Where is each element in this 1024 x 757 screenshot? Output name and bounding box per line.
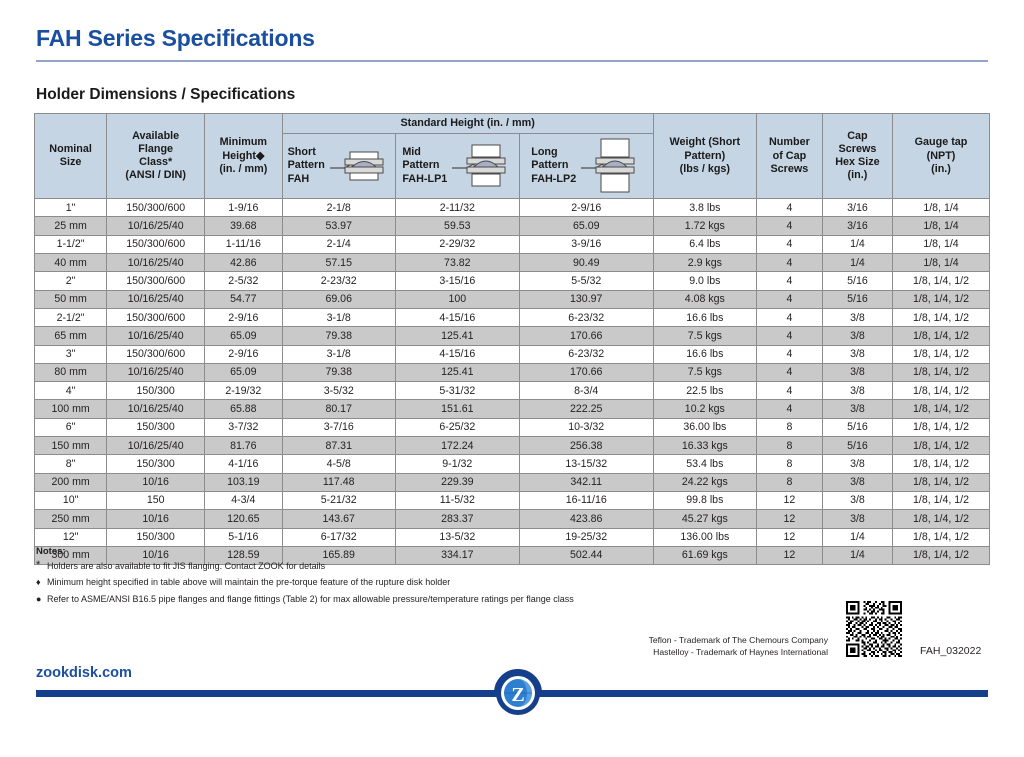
cell-flange-class: 10/16 xyxy=(107,473,205,491)
cell-mid-pattern: 283.37 xyxy=(395,510,519,528)
table-row: 80 mm10/16/25/4065.0979.38125.41170.667.… xyxy=(35,363,990,381)
cell-minimum-height: 1-11/16 xyxy=(205,235,282,253)
col-header-mid-pattern: Mid Pattern FAH-LP1 xyxy=(395,134,519,199)
cell-minimum-height: 2-19/32 xyxy=(205,382,282,400)
cell-nominal-size: 1-1/2" xyxy=(35,235,107,253)
col-header-minimum-height: Minimum Height◆ (in. / mm) xyxy=(205,114,282,199)
cell-gauge-tap: 1/8, 1/4, 1/2 xyxy=(893,546,990,564)
cell-cap-screws-hex-size: 3/16 xyxy=(822,217,892,235)
cell-number-of-cap-screws: 4 xyxy=(756,345,822,363)
table-row: 12"150/3005-1/166-17/3213-5/3219-25/3213… xyxy=(35,528,990,546)
cell-number-of-cap-screws: 12 xyxy=(756,528,822,546)
hex-line4: (in.) xyxy=(825,169,890,182)
cell-gauge-tap: 1/8, 1/4, 1/2 xyxy=(893,345,990,363)
table-row: 50 mm10/16/25/4054.7769.06100130.974.08 … xyxy=(35,290,990,308)
cell-short-pattern: 79.38 xyxy=(282,327,395,345)
cell-long-pattern: 6-23/32 xyxy=(519,345,653,363)
cell-short-pattern: 3-7/16 xyxy=(282,418,395,436)
cell-minimum-height: 65.88 xyxy=(205,400,282,418)
cell-weight: 45.27 kgs xyxy=(653,510,756,528)
nominal-size-line1: Nominal xyxy=(37,143,104,156)
cell-long-pattern: 16-11/16 xyxy=(519,491,653,509)
cell-nominal-size: 150 mm xyxy=(35,437,107,455)
cell-gauge-tap: 1/8, 1/4, 1/2 xyxy=(893,528,990,546)
cell-gauge-tap: 1/8, 1/4, 1/2 xyxy=(893,400,990,418)
cell-long-pattern: 222.25 xyxy=(519,400,653,418)
minimum-height-line3: (in. / mm) xyxy=(207,163,279,176)
cell-mid-pattern: 172.24 xyxy=(395,437,519,455)
zook-logo-icon: Z xyxy=(494,669,542,717)
long-pattern-line3: FAH-LP2 xyxy=(531,173,576,186)
cell-minimum-height: 2-9/16 xyxy=(205,345,282,363)
cell-number-of-cap-screws: 4 xyxy=(756,400,822,418)
cell-short-pattern: 6-17/32 xyxy=(282,528,395,546)
minimum-height-line1: Minimum xyxy=(207,136,279,149)
cell-weight: 7.5 kgs xyxy=(653,363,756,381)
table-row: 8"150/3004-1/164-5/89-1/3213-15/3253.4 l… xyxy=(35,455,990,473)
cell-short-pattern: 79.38 xyxy=(282,363,395,381)
cell-mid-pattern: 73.82 xyxy=(395,254,519,272)
cell-number-of-cap-screws: 8 xyxy=(756,437,822,455)
cell-cap-screws-hex-size: 3/16 xyxy=(822,199,892,217)
hex-line2: Screws xyxy=(825,143,890,156)
cell-minimum-height: 2-9/16 xyxy=(205,308,282,326)
cell-cap-screws-hex-size: 5/16 xyxy=(822,290,892,308)
cell-nominal-size: 2-1/2" xyxy=(35,308,107,326)
gauge-line2: (NPT) xyxy=(895,150,987,163)
cell-short-pattern: 5-21/32 xyxy=(282,491,395,509)
cell-cap-screws-hex-size: 1/4 xyxy=(822,254,892,272)
col-header-short-pattern: Short Pattern FAH xyxy=(282,134,395,199)
notes-list: *Holders are also available to fit JIS f… xyxy=(36,561,736,605)
cell-long-pattern: 65.09 xyxy=(519,217,653,235)
cell-long-pattern: 423.86 xyxy=(519,510,653,528)
cell-number-of-cap-screws: 4 xyxy=(756,254,822,272)
col-header-gauge-tap: Gauge tap (NPT) (in.) xyxy=(893,114,990,199)
cell-mid-pattern: 151.61 xyxy=(395,400,519,418)
specification-page: FAH Series Specifications Holder Dimensi… xyxy=(0,0,1024,757)
notes-heading: Notes: xyxy=(36,546,736,557)
title-divider xyxy=(36,60,988,62)
col-header-nominal-size: Nominal Size xyxy=(35,114,107,199)
cell-long-pattern: 170.66 xyxy=(519,327,653,345)
note-text: Minimum height specified in table above … xyxy=(47,577,736,588)
cell-gauge-tap: 1/8, 1/4 xyxy=(893,217,990,235)
cell-nominal-size: 1" xyxy=(35,199,107,217)
cell-weight: 16.6 lbs xyxy=(653,345,756,363)
cell-gauge-tap: 1/8, 1/4, 1/2 xyxy=(893,510,990,528)
holder-dimensions-table-wrapper: Nominal Size Available Flange Class* (AN… xyxy=(34,113,990,565)
mid-pattern-line3: FAH-LP1 xyxy=(402,173,447,186)
table-row: 25 mm10/16/25/4039.6853.9759.5365.091.72… xyxy=(35,217,990,235)
cell-long-pattern: 130.97 xyxy=(519,290,653,308)
cell-mid-pattern: 125.41 xyxy=(395,363,519,381)
cell-flange-class: 150/300/600 xyxy=(107,235,205,253)
cell-minimum-height: 42.86 xyxy=(205,254,282,272)
cell-cap-screws-hex-size: 3/8 xyxy=(822,345,892,363)
col-header-weight: Weight (Short Pattern) (lbs / kgs) xyxy=(653,114,756,199)
table-row: 65 mm10/16/25/4065.0979.38125.41170.667.… xyxy=(35,327,990,345)
cell-cap-screws-hex-size: 3/8 xyxy=(822,363,892,381)
short-pattern-line3: FAH xyxy=(288,173,325,186)
cell-cap-screws-hex-size: 3/8 xyxy=(822,455,892,473)
cell-long-pattern: 2-9/16 xyxy=(519,199,653,217)
cell-gauge-tap: 1/8, 1/4 xyxy=(893,254,990,272)
cell-gauge-tap: 1/8, 1/4 xyxy=(893,235,990,253)
document-code: FAH_032022 xyxy=(920,645,981,657)
diamond-marker-icon: ◆ xyxy=(256,150,264,162)
cell-cap-screws-hex-size: 1/4 xyxy=(822,546,892,564)
table-row: 2-1/2"150/300/6002-9/163-1/84-15/166-23/… xyxy=(35,308,990,326)
short-pattern-line1: Short xyxy=(288,146,325,159)
cell-minimum-height: 5-1/16 xyxy=(205,528,282,546)
cell-nominal-size: 3" xyxy=(35,345,107,363)
cell-cap-screws-hex-size: 1/4 xyxy=(822,528,892,546)
cell-nominal-size: 2" xyxy=(35,272,107,290)
hex-line1: Cap xyxy=(825,130,890,143)
cell-cap-screws-hex-size: 3/8 xyxy=(822,510,892,528)
cell-cap-screws-hex-size: 1/4 xyxy=(822,235,892,253)
table-header: Nominal Size Available Flange Class* (AN… xyxy=(35,114,990,199)
table-body: 1"150/300/6001-9/162-1/82-11/322-9/163.8… xyxy=(35,199,990,565)
cell-flange-class: 10/16/25/40 xyxy=(107,254,205,272)
cell-short-pattern: 53.97 xyxy=(282,217,395,235)
cell-nominal-size: 10" xyxy=(35,491,107,509)
flange-class-line4: (ANSI / DIN) xyxy=(109,169,202,182)
cell-minimum-height: 1-9/16 xyxy=(205,199,282,217)
note-marker-icon: ● xyxy=(36,594,47,605)
section-title: Holder Dimensions / Specifications xyxy=(36,86,295,104)
cell-weight: 16.6 lbs xyxy=(653,308,756,326)
minimum-height-line2: Height◆ xyxy=(207,150,279,163)
cell-flange-class: 150/300/600 xyxy=(107,308,205,326)
table-row: 3"150/300/6002-9/163-1/84-15/166-23/3216… xyxy=(35,345,990,363)
cell-mid-pattern: 3-15/16 xyxy=(395,272,519,290)
note-marker-icon: * xyxy=(36,561,47,571)
note-marker-icon: ♦ xyxy=(36,577,47,588)
cell-weight: 22.5 lbs xyxy=(653,382,756,400)
cell-minimum-height: 65.09 xyxy=(205,327,282,345)
col-header-long-pattern: Long Pattern FAH-LP2 xyxy=(519,134,653,199)
cell-flange-class: 150/300 xyxy=(107,382,205,400)
cell-short-pattern: 143.67 xyxy=(282,510,395,528)
title-block: FAH Series Specifications xyxy=(36,26,988,62)
cell-nominal-size: 100 mm xyxy=(35,400,107,418)
cell-mid-pattern: 9-1/32 xyxy=(395,455,519,473)
cell-long-pattern: 90.49 xyxy=(519,254,653,272)
num-screws-line2: of Cap xyxy=(759,150,820,163)
cell-nominal-size: 250 mm xyxy=(35,510,107,528)
cell-gauge-tap: 1/8, 1/4, 1/2 xyxy=(893,491,990,509)
cell-nominal-size: 8" xyxy=(35,455,107,473)
cell-long-pattern: 5-5/32 xyxy=(519,272,653,290)
cell-mid-pattern: 11-5/32 xyxy=(395,491,519,509)
cell-number-of-cap-screws: 4 xyxy=(756,363,822,381)
cell-weight: 24.22 kgs xyxy=(653,473,756,491)
cell-weight: 9.0 lbs xyxy=(653,272,756,290)
cell-number-of-cap-screws: 4 xyxy=(756,308,822,326)
trademark-line-1: Teflon - Trademark of The Chemours Compa… xyxy=(632,634,828,646)
cell-long-pattern: 13-15/32 xyxy=(519,455,653,473)
cell-weight: 10.2 kgs xyxy=(653,400,756,418)
table-row: 1"150/300/6001-9/162-1/82-11/322-9/163.8… xyxy=(35,199,990,217)
cell-weight: 36.00 lbs xyxy=(653,418,756,436)
cell-gauge-tap: 1/8, 1/4, 1/2 xyxy=(893,382,990,400)
cell-weight: 4.08 kgs xyxy=(653,290,756,308)
cell-long-pattern: 170.66 xyxy=(519,363,653,381)
cell-flange-class: 10/16 xyxy=(107,510,205,528)
cell-long-pattern: 10-3/32 xyxy=(519,418,653,436)
note-item: ●Refer to ASME/ANSI B16.5 pipe flanges a… xyxy=(36,594,736,605)
cell-minimum-height: 120.65 xyxy=(205,510,282,528)
cell-mid-pattern: 4-15/16 xyxy=(395,308,519,326)
table-row: 2"150/300/6002-5/322-23/323-15/165-5/329… xyxy=(35,272,990,290)
note-text: Refer to ASME/ANSI B16.5 pipe flanges an… xyxy=(47,594,736,605)
cell-flange-class: 150 xyxy=(107,491,205,509)
table-row: 10"1504-3/45-21/3211-5/3216-11/1699.8 lb… xyxy=(35,491,990,509)
cell-cap-screws-hex-size: 5/16 xyxy=(822,437,892,455)
cell-number-of-cap-screws: 12 xyxy=(756,546,822,564)
cell-mid-pattern: 5-31/32 xyxy=(395,382,519,400)
trademark-line-2: Hastelloy - Trademark of Haynes Internat… xyxy=(632,646,828,658)
cell-weight: 7.5 kgs xyxy=(653,327,756,345)
zook-logo-letter: Z xyxy=(511,684,524,706)
cell-number-of-cap-screws: 12 xyxy=(756,510,822,528)
cell-long-pattern: 256.38 xyxy=(519,437,653,455)
cell-gauge-tap: 1/8, 1/4, 1/2 xyxy=(893,473,990,491)
cell-nominal-size: 6" xyxy=(35,418,107,436)
col-header-cap-screws-hex-size: Cap Screws Hex Size (in.) xyxy=(822,114,892,199)
col-header-flange-class: Available Flange Class* (ANSI / DIN) xyxy=(107,114,205,199)
cell-number-of-cap-screws: 4 xyxy=(756,327,822,345)
website-link[interactable]: zookdisk.com xyxy=(36,665,132,681)
cell-gauge-tap: 1/8, 1/4, 1/2 xyxy=(893,327,990,345)
cell-flange-class: 10/16/25/40 xyxy=(107,400,205,418)
cell-nominal-size: 25 mm xyxy=(35,217,107,235)
page-title: FAH Series Specifications xyxy=(36,26,988,51)
cell-mid-pattern: 229.39 xyxy=(395,473,519,491)
cell-minimum-height: 3-7/32 xyxy=(205,418,282,436)
cell-nominal-size: 200 mm xyxy=(35,473,107,491)
cell-cap-screws-hex-size: 5/16 xyxy=(822,418,892,436)
gauge-line1: Gauge tap xyxy=(895,136,987,149)
weight-line3: (lbs / kgs) xyxy=(656,163,754,176)
cell-weight: 1.72 kgs xyxy=(653,217,756,235)
cell-mid-pattern: 125.41 xyxy=(395,327,519,345)
cell-nominal-size: 12" xyxy=(35,528,107,546)
cell-mid-pattern: 2-11/32 xyxy=(395,199,519,217)
cell-long-pattern: 3-9/16 xyxy=(519,235,653,253)
table-row: 250 mm10/16120.65143.67283.37423.8645.27… xyxy=(35,510,990,528)
qr-code-icon[interactable] xyxy=(846,601,902,657)
cell-number-of-cap-screws: 8 xyxy=(756,455,822,473)
cell-short-pattern: 2-1/4 xyxy=(282,235,395,253)
mid-pattern-line1: Mid xyxy=(402,146,447,159)
table-row: 200 mm10/16103.19117.48229.39342.1124.22… xyxy=(35,473,990,491)
num-screws-line3: Screws xyxy=(759,163,820,176)
cell-gauge-tap: 1/8, 1/4, 1/2 xyxy=(893,308,990,326)
cell-flange-class: 150/300/600 xyxy=(107,199,205,217)
cell-number-of-cap-screws: 4 xyxy=(756,199,822,217)
cell-cap-screws-hex-size: 3/8 xyxy=(822,400,892,418)
cell-weight: 3.8 lbs xyxy=(653,199,756,217)
table-header-row-group: Nominal Size Available Flange Class* (AN… xyxy=(35,114,990,134)
cell-weight: 16.33 kgs xyxy=(653,437,756,455)
cell-gauge-tap: 1/8, 1/4, 1/2 xyxy=(893,455,990,473)
short-pattern-line2: Pattern xyxy=(288,159,325,172)
cell-number-of-cap-screws: 4 xyxy=(756,272,822,290)
cell-short-pattern: 69.06 xyxy=(282,290,395,308)
gauge-line3: (in.) xyxy=(895,163,987,176)
cell-flange-class: 150/300 xyxy=(107,455,205,473)
table-row: 100 mm10/16/25/4065.8880.17151.61222.251… xyxy=(35,400,990,418)
cell-flange-class: 150/300 xyxy=(107,528,205,546)
note-item: ♦Minimum height specified in table above… xyxy=(36,577,736,588)
cell-number-of-cap-screws: 8 xyxy=(756,473,822,491)
cell-weight: 2.9 kgs xyxy=(653,254,756,272)
cell-nominal-size: 4" xyxy=(35,382,107,400)
cell-flange-class: 10/16/25/40 xyxy=(107,363,205,381)
cell-flange-class: 10/16/25/40 xyxy=(107,437,205,455)
mid-pattern-diagram-icon xyxy=(450,140,512,192)
cell-gauge-tap: 1/8, 1/4, 1/2 xyxy=(893,272,990,290)
cell-flange-class: 150/300 xyxy=(107,418,205,436)
cell-nominal-size: 50 mm xyxy=(35,290,107,308)
cell-cap-screws-hex-size: 3/8 xyxy=(822,308,892,326)
long-pattern-diagram-icon xyxy=(579,137,641,195)
cell-flange-class: 10/16/25/40 xyxy=(107,290,205,308)
table-row: 6"150/3003-7/323-7/166-25/3210-3/3236.00… xyxy=(35,418,990,436)
cell-cap-screws-hex-size: 3/8 xyxy=(822,382,892,400)
cell-number-of-cap-screws: 4 xyxy=(756,382,822,400)
flange-class-line3: Class* xyxy=(109,156,202,169)
cell-mid-pattern: 4-15/16 xyxy=(395,345,519,363)
cell-mid-pattern: 59.53 xyxy=(395,217,519,235)
cell-mid-pattern: 100 xyxy=(395,290,519,308)
cell-minimum-height: 2-5/32 xyxy=(205,272,282,290)
cell-short-pattern: 3-1/8 xyxy=(282,308,395,326)
cell-mid-pattern: 6-25/32 xyxy=(395,418,519,436)
cell-short-pattern: 57.15 xyxy=(282,254,395,272)
cell-minimum-height: 65.09 xyxy=(205,363,282,381)
cell-cap-screws-hex-size: 3/8 xyxy=(822,491,892,509)
cell-nominal-size: 40 mm xyxy=(35,254,107,272)
cell-minimum-height: 4-1/16 xyxy=(205,455,282,473)
cell-flange-class: 150/300/600 xyxy=(107,272,205,290)
cell-minimum-height: 4-3/4 xyxy=(205,491,282,509)
cell-number-of-cap-screws: 12 xyxy=(756,491,822,509)
long-pattern-line2: Pattern xyxy=(531,159,576,172)
cell-gauge-tap: 1/8, 1/4, 1/2 xyxy=(893,437,990,455)
cell-gauge-tap: 1/8, 1/4, 1/2 xyxy=(893,418,990,436)
hex-line3: Hex Size xyxy=(825,156,890,169)
col-header-number-of-cap-screws: Number of Cap Screws xyxy=(756,114,822,199)
cell-weight: 6.4 lbs xyxy=(653,235,756,253)
cell-short-pattern: 2-1/8 xyxy=(282,199,395,217)
cell-long-pattern: 342.11 xyxy=(519,473,653,491)
cell-weight: 53.4 lbs xyxy=(653,455,756,473)
note-text: Holders are also available to fit JIS fl… xyxy=(47,561,736,572)
cell-short-pattern: 87.31 xyxy=(282,437,395,455)
table-row: 40 mm10/16/25/4042.8657.1573.8290.492.9 … xyxy=(35,254,990,272)
cell-short-pattern: 80.17 xyxy=(282,400,395,418)
table-row: 150 mm10/16/25/4081.7687.31172.24256.381… xyxy=(35,437,990,455)
cell-minimum-height: 39.68 xyxy=(205,217,282,235)
cell-mid-pattern: 2-29/32 xyxy=(395,235,519,253)
flange-class-line2: Flange xyxy=(109,143,202,156)
cell-long-pattern: 8-3/4 xyxy=(519,382,653,400)
flange-class-line1: Available xyxy=(109,130,202,143)
num-screws-line1: Number xyxy=(759,136,820,149)
cell-flange-class: 10/16/25/40 xyxy=(107,327,205,345)
holder-dimensions-table: Nominal Size Available Flange Class* (AN… xyxy=(34,113,990,565)
mid-pattern-line2: Pattern xyxy=(402,159,447,172)
cell-weight: 99.8 lbs xyxy=(653,491,756,509)
long-pattern-line1: Long xyxy=(531,146,576,159)
cell-nominal-size: 80 mm xyxy=(35,363,107,381)
trademark-notice: Teflon - Trademark of The Chemours Compa… xyxy=(632,634,828,659)
table-row: 4"150/3002-19/323-5/325-31/328-3/422.5 l… xyxy=(35,382,990,400)
cell-gauge-tap: 1/8, 1/4, 1/2 xyxy=(893,363,990,381)
cell-gauge-tap: 1/8, 1/4 xyxy=(893,199,990,217)
cell-short-pattern: 4-5/8 xyxy=(282,455,395,473)
col-header-standard-height-group: Standard Height (in. / mm) xyxy=(282,114,653,134)
cell-cap-screws-hex-size: 3/8 xyxy=(822,327,892,345)
cell-cap-screws-hex-size: 5/16 xyxy=(822,272,892,290)
short-pattern-diagram-icon xyxy=(328,143,390,189)
cell-short-pattern: 2-23/32 xyxy=(282,272,395,290)
cell-minimum-height: 103.19 xyxy=(205,473,282,491)
cell-minimum-height: 54.77 xyxy=(205,290,282,308)
cell-long-pattern: 6-23/32 xyxy=(519,308,653,326)
weight-line1: Weight (Short xyxy=(656,136,754,149)
cell-minimum-height: 81.76 xyxy=(205,437,282,455)
cell-short-pattern: 3-5/32 xyxy=(282,382,395,400)
cell-long-pattern: 19-25/32 xyxy=(519,528,653,546)
weight-line2: Pattern) xyxy=(656,150,754,163)
cell-short-pattern: 117.48 xyxy=(282,473,395,491)
cell-short-pattern: 3-1/8 xyxy=(282,345,395,363)
cell-cap-screws-hex-size: 3/8 xyxy=(822,473,892,491)
cell-flange-class: 10/16/25/40 xyxy=(107,217,205,235)
note-item: *Holders are also available to fit JIS f… xyxy=(36,561,736,572)
cell-gauge-tap: 1/8, 1/4, 1/2 xyxy=(893,290,990,308)
cell-number-of-cap-screws: 8 xyxy=(756,418,822,436)
cell-nominal-size: 65 mm xyxy=(35,327,107,345)
cell-weight: 136.00 lbs xyxy=(653,528,756,546)
cell-mid-pattern: 13-5/32 xyxy=(395,528,519,546)
nominal-size-line2: Size xyxy=(37,156,104,169)
cell-number-of-cap-screws: 4 xyxy=(756,290,822,308)
cell-flange-class: 150/300/600 xyxy=(107,345,205,363)
notes-section: Notes: *Holders are also available to fi… xyxy=(36,546,736,610)
cell-number-of-cap-screws: 4 xyxy=(756,235,822,253)
table-row: 1-1/2"150/300/6001-11/162-1/42-29/323-9/… xyxy=(35,235,990,253)
cell-number-of-cap-screws: 4 xyxy=(756,217,822,235)
